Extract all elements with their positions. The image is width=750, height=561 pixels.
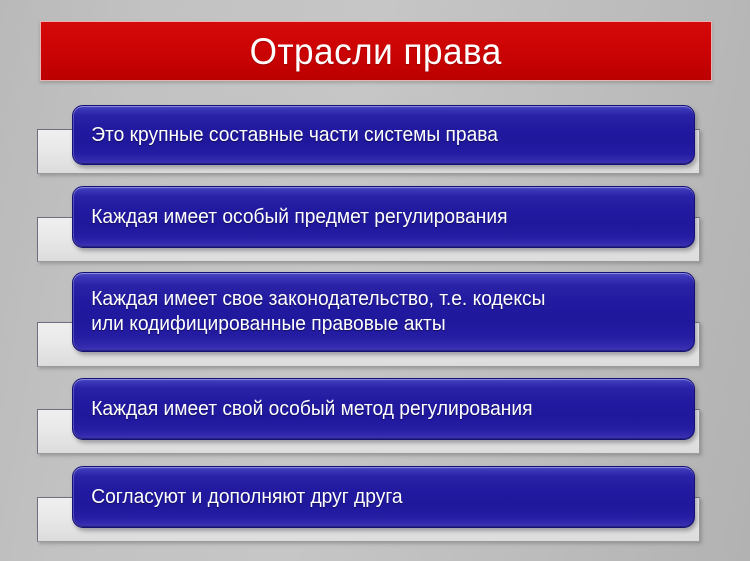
bullet-bar-2[interactable]: Каждая имеет особый предмет регулировани… xyxy=(72,186,695,248)
bullet-label-2: Каждая имеет особый предмет регулировани… xyxy=(73,205,521,230)
title-banner: Отрасли права xyxy=(40,21,712,81)
page-title: Отрасли права xyxy=(250,33,502,70)
bullet-bar-3[interactable]: Каждая имеет свое законодательство, т.е.… xyxy=(72,272,695,352)
bullet-label-5: Согласуют и дополняют друг друга xyxy=(73,485,416,510)
bullet-bar-4[interactable]: Каждая имеет свой особый метод регулиров… xyxy=(72,378,695,440)
bullet-label-4: Каждая имеет свой особый метод регулиров… xyxy=(73,397,546,422)
bullet-bar-5[interactable]: Согласуют и дополняют друг друга xyxy=(72,466,695,528)
slide-canvas: Отрасли права Это крупные составные част… xyxy=(0,0,750,561)
bullet-label-3: Каждая имеет свое законодательство, т.е.… xyxy=(73,287,559,337)
bullet-bar-1[interactable]: Это крупные составные части системы прав… xyxy=(72,105,695,165)
bullet-label-1: Это крупные составные части системы прав… xyxy=(73,123,511,148)
